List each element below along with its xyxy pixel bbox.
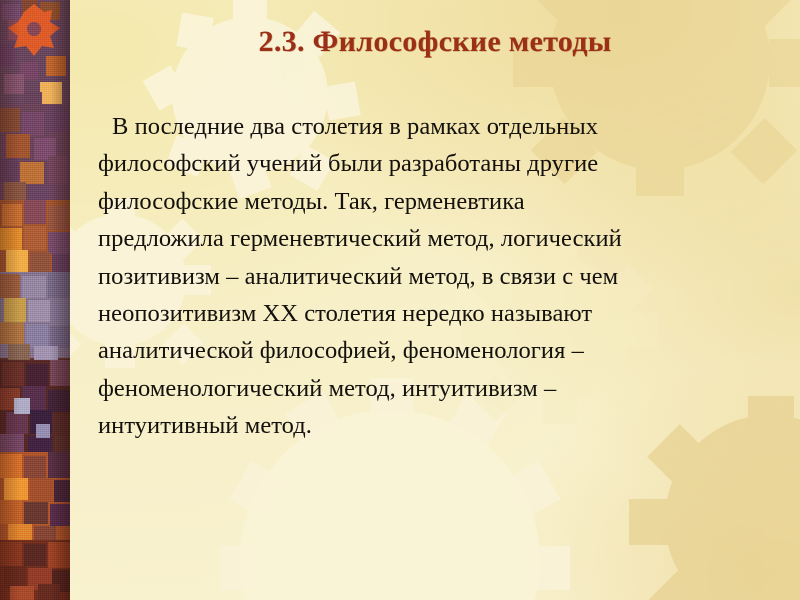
- body-line: интуитивный метод.: [98, 407, 770, 444]
- body-line: позитивизм – аналитический метод, в связ…: [98, 258, 770, 295]
- body-line: феноменологический метод, интуитивизм –: [98, 370, 770, 407]
- mosaic-vignette-overlay: [0, 0, 70, 600]
- body-line: философские методы. Так, герменевтика: [98, 183, 770, 220]
- body-line: неопозитивизм XX столетия нередко называ…: [98, 295, 770, 332]
- slide-body-text: В последние два столетия в рамках отдель…: [98, 108, 770, 445]
- slide-title: 2.3. Философские методы: [90, 25, 780, 58]
- body-line: аналитической философией, феноменология …: [98, 332, 770, 369]
- presentation-slide: 2.3. Философские методы В последние два …: [0, 0, 800, 600]
- body-line: В последние два столетия в рамках отдель…: [98, 108, 770, 145]
- body-line: философский учений были разработаны друг…: [98, 145, 770, 182]
- body-line: предложила герменевтический метод, логич…: [98, 220, 770, 257]
- mosaic-texture-band: [0, 0, 70, 600]
